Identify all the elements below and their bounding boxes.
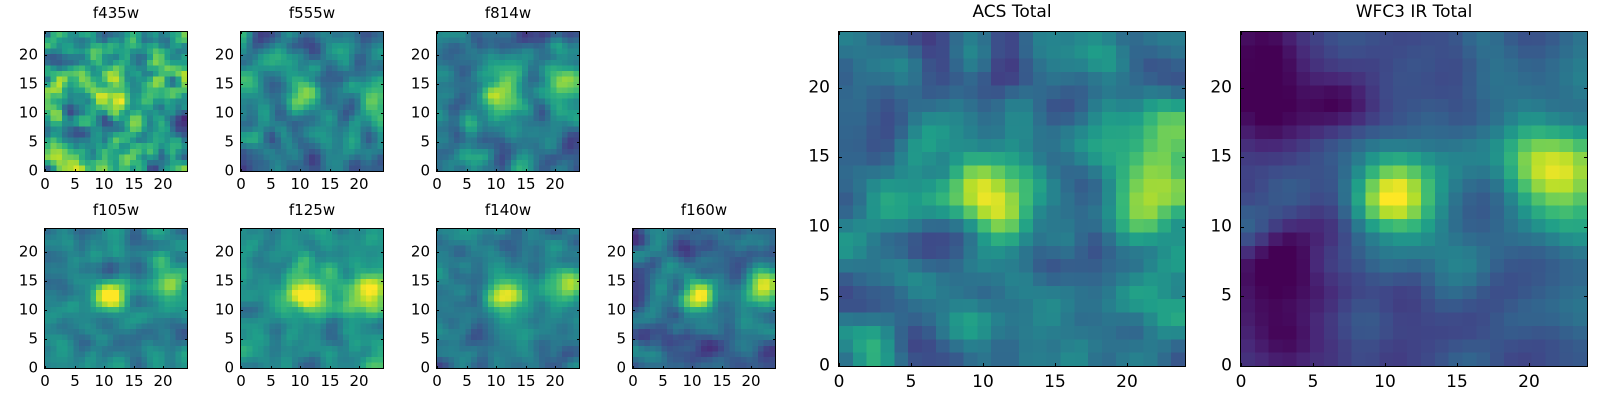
x-tick-top — [1457, 31, 1458, 35]
y-tick-label: 5 — [1194, 288, 1232, 305]
x-tick — [1385, 363, 1386, 367]
x-tick-label: 15 — [1446, 374, 1468, 391]
x-tick-label: 10 — [1374, 374, 1396, 391]
y-tick-right — [1584, 157, 1588, 158]
x-tick-top — [1385, 31, 1386, 35]
x-tick-top — [1313, 31, 1314, 35]
y-tick-label: 20 — [1194, 80, 1232, 97]
x-tick — [1313, 363, 1314, 367]
y-tick-label: 15 — [1194, 149, 1232, 166]
x-tick — [1529, 363, 1530, 367]
y-tick-right — [1584, 88, 1588, 89]
y-tick — [1240, 296, 1244, 297]
x-tick-label: 5 — [1308, 374, 1319, 391]
y-tick — [1240, 366, 1244, 367]
y-tick-right — [1584, 227, 1588, 228]
x-tick — [1457, 363, 1458, 367]
figure-canvas: f435w0510152005101520f555w05101520051015… — [0, 0, 1600, 400]
y-tick-right — [1584, 296, 1588, 297]
y-tick-right — [1584, 366, 1588, 367]
x-tick-label: 0 — [1236, 374, 1247, 391]
y-tick-label: 0 — [1194, 358, 1232, 375]
y-tick-label: 10 — [1194, 219, 1232, 236]
panel-title-wfc3-ir-total: WFC3 IR Total — [1240, 4, 1588, 21]
y-tick — [1240, 157, 1244, 158]
heatmap-wfc3-ir-total — [1241, 32, 1587, 366]
y-tick — [1240, 227, 1244, 228]
x-tick-top — [1241, 31, 1242, 35]
image-panel-wfc3-ir-total: WFC3 IR Total0510152005101520 — [0, 0, 1600, 400]
x-tick-label: 20 — [1518, 374, 1540, 391]
axes-wfc3-ir-total — [1240, 31, 1588, 367]
x-tick-top — [1529, 31, 1530, 35]
y-tick — [1240, 88, 1244, 89]
